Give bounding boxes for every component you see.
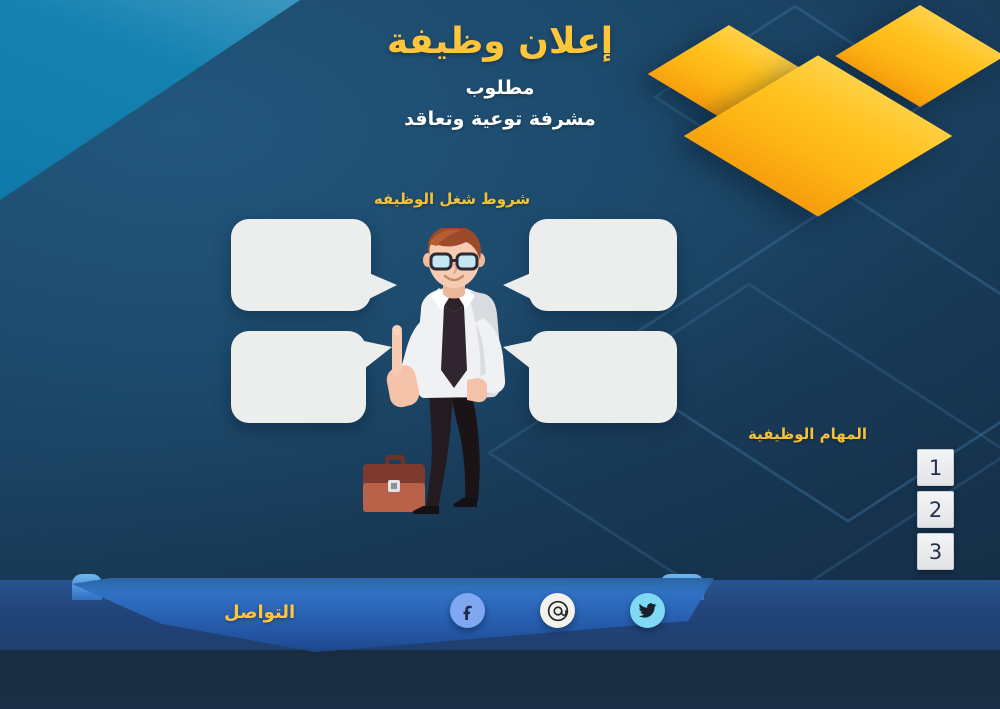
job-poster-slide: إعلان وظيفة مطلوب مشرفة توعية وتعاقد شرو… [0,0,1000,709]
duties-section-label: المهام الوظيفية [748,425,867,443]
twitter-icon[interactable] [630,593,665,628]
businessman-illustration [355,228,545,518]
poster-subtitle-line1: مطلوب [0,76,1000,102]
duty-number-box-1[interactable]: 1 [917,449,954,486]
condition-bubble-1[interactable] [231,219,371,311]
social-links [450,593,665,628]
contact-label: التواصل [224,602,295,623]
email-icon[interactable] [540,593,575,628]
poster-heading-group: إعلان وظيفة مطلوب مشرفة توعية وتعاقد [0,22,1000,133]
condition-bubble-2[interactable] [529,219,677,311]
duty-number-list: 1 2 3 [917,449,954,575]
footer-bar: التواصل [0,580,1000,650]
duty-number-box-3[interactable]: 3 [917,533,954,570]
page-title: إعلان وظيفة [0,22,1000,62]
poster-subtitle-line2: مشرفة توعية وتعاقد [0,107,1000,133]
duty-number-box-2[interactable]: 2 [917,491,954,528]
condition-bubble-3[interactable] [231,331,366,423]
briefcase-icon [363,455,425,512]
condition-bubble-4[interactable] [529,331,677,423]
facebook-icon[interactable] [450,593,485,628]
conditions-section-label: شروط شغل الوظيفه [364,190,540,208]
